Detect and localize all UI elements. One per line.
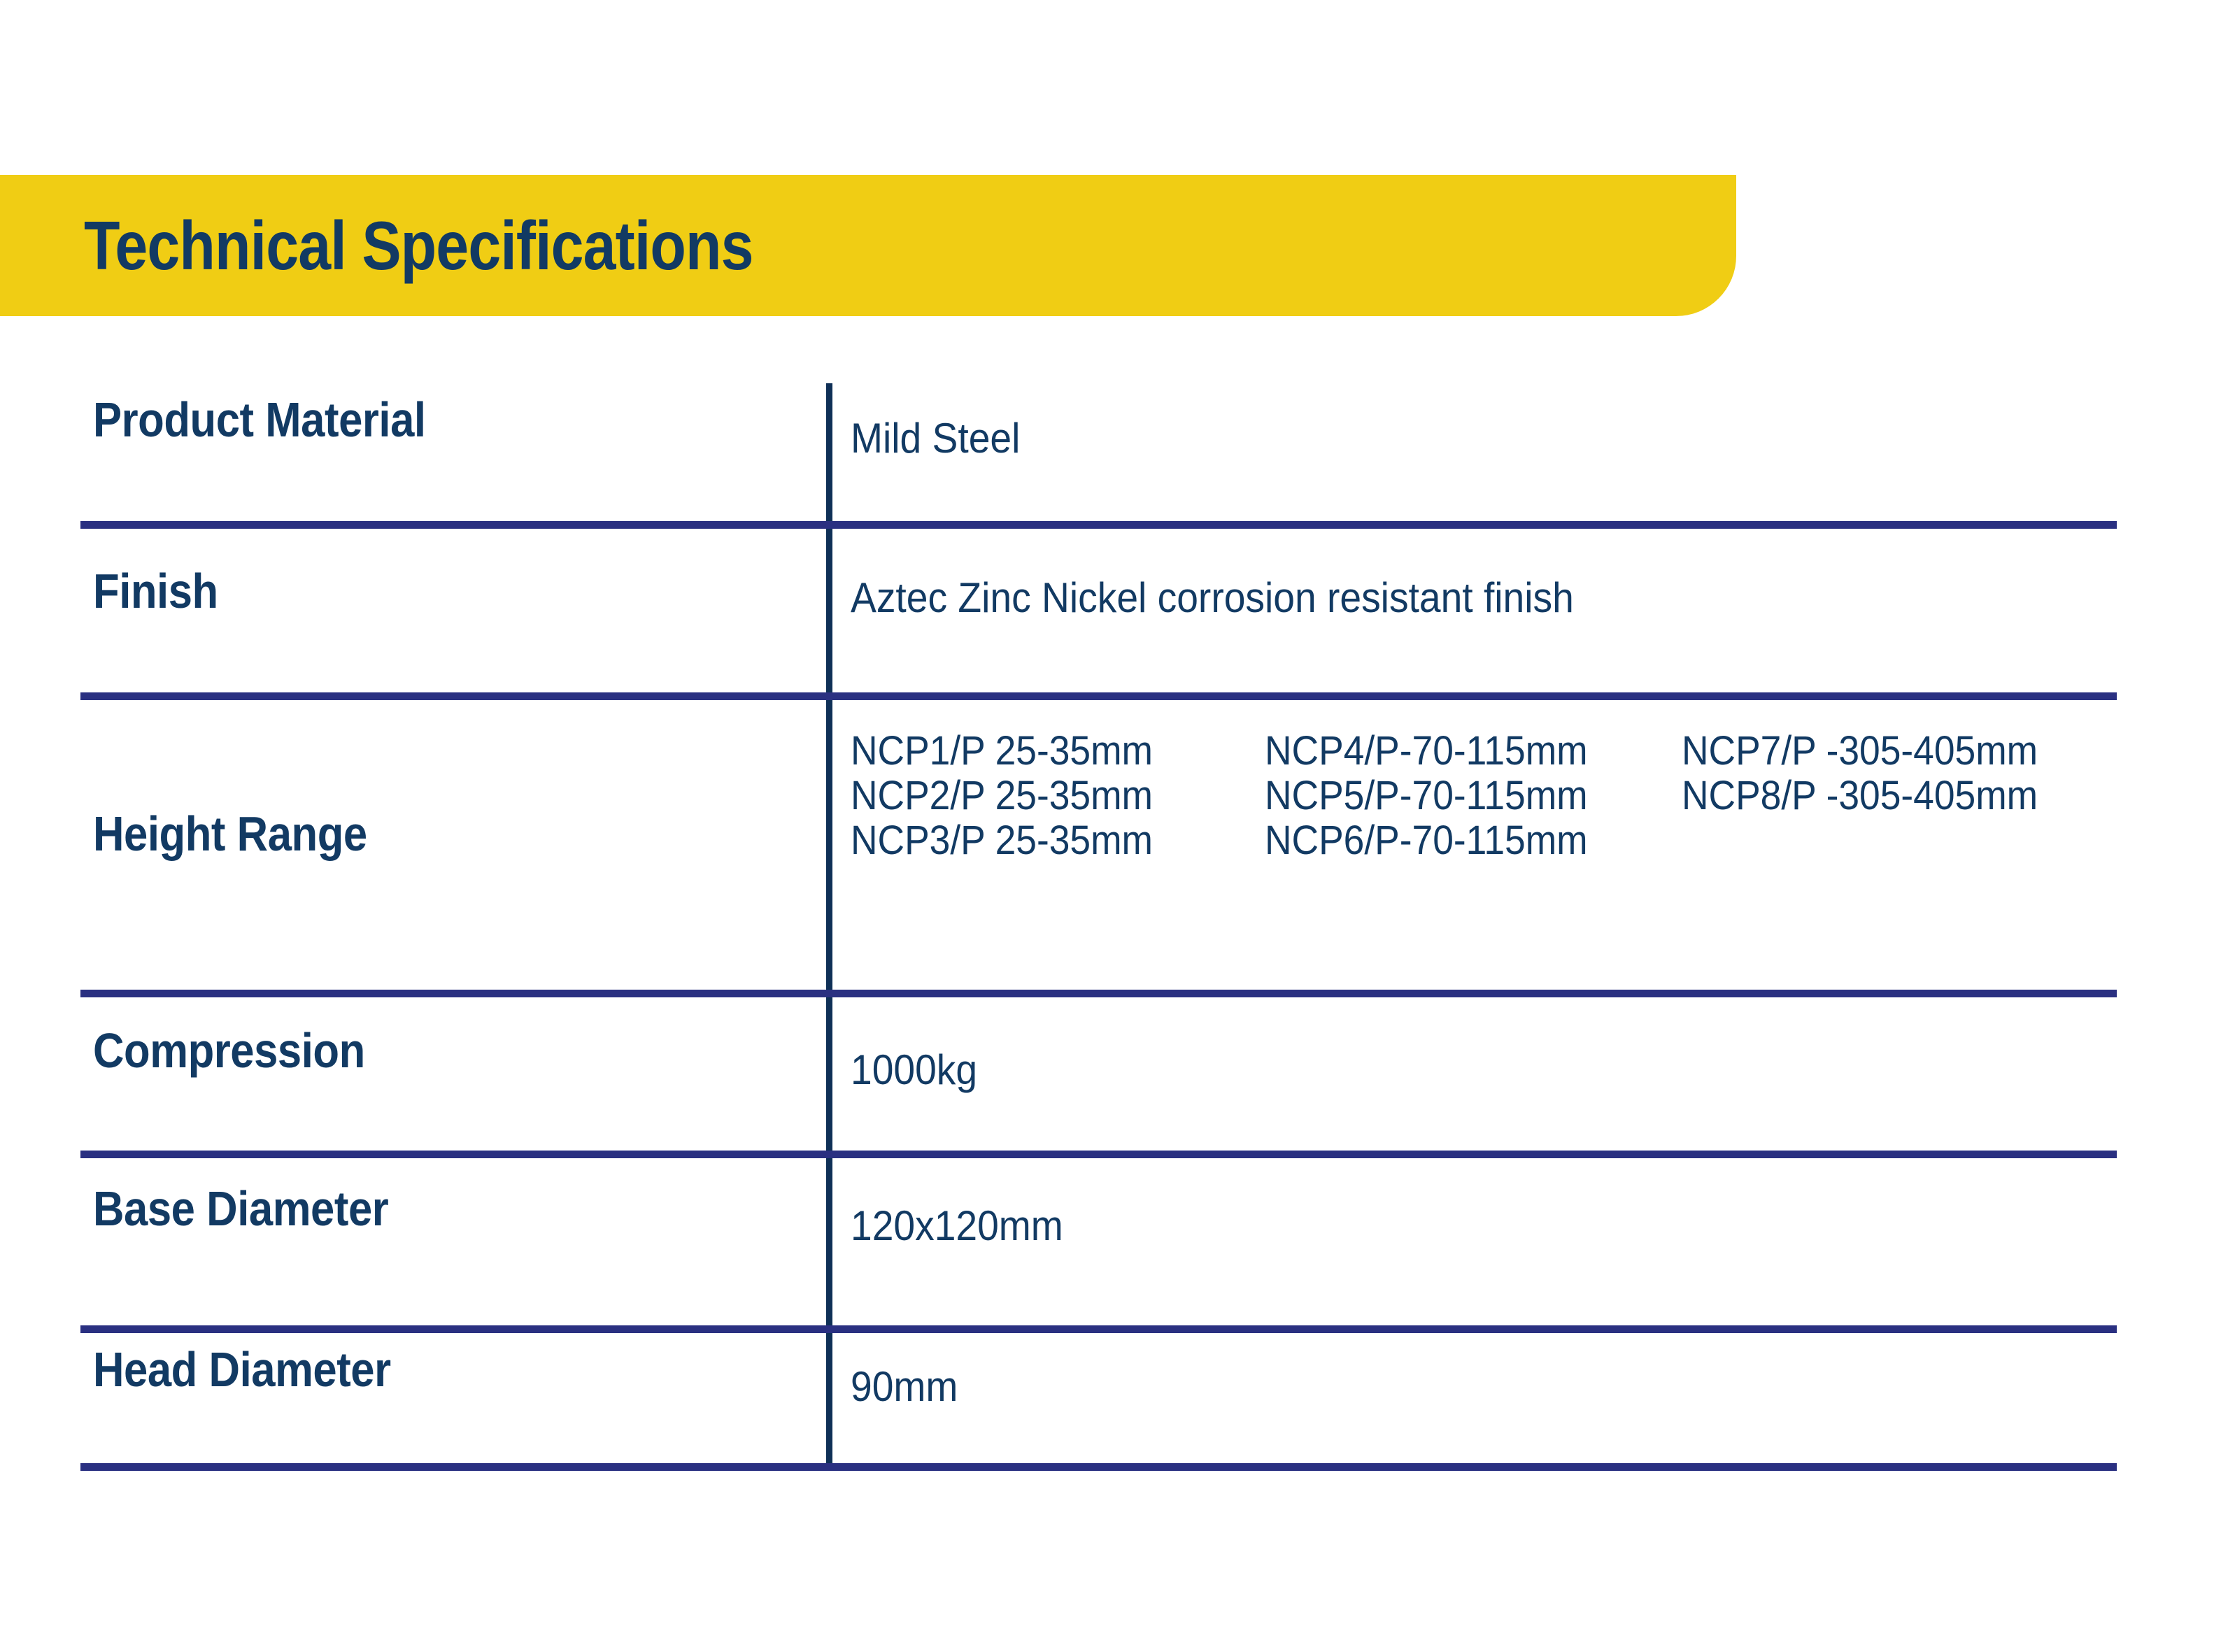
spec-value-height-range: NCP1/P 25-35mm NCP4/P-70-115mm NCP7/P -3…	[851, 727, 2180, 862]
spec-label-head-diameter: Head Diameter	[93, 1341, 391, 1397]
height-range-cell: NCP2/P 25-35mm	[851, 772, 1153, 819]
row-divider	[80, 1151, 2117, 1158]
row-divider	[80, 692, 2117, 700]
height-range-cell: NCP1/P 25-35mm	[851, 727, 1153, 774]
specifications-table: Product Material Mild Steel Finish Aztec…	[0, 0, 2214, 1652]
spec-value-finish: Aztec Zinc Nickel corrosion resistant fi…	[851, 574, 1574, 622]
spec-value-compression: 1000kg	[851, 1046, 977, 1094]
row-divider	[80, 1463, 2117, 1471]
height-range-line: NCP3/P 25-35mm NCP6/P-70-115mm	[851, 817, 2180, 862]
row-divider	[80, 521, 2117, 529]
row-divider	[80, 990, 2117, 997]
height-range-cell: NCP5/P-70-115mm	[1265, 772, 1588, 819]
height-range-cell: NCP3/P 25-35mm	[851, 817, 1153, 864]
spec-value-product-material: Mild Steel	[851, 414, 1020, 462]
spec-value-base-diameter: 120x120mm	[851, 1202, 1063, 1250]
height-range-cell: NCP7/P -305-405mm	[1682, 727, 2038, 774]
height-range-cell: NCP8/P -305-405mm	[1682, 772, 2038, 819]
row-divider	[80, 1325, 2117, 1333]
spec-label-product-material: Product Material	[93, 392, 426, 448]
height-range-cell: NCP4/P-70-115mm	[1265, 727, 1588, 774]
height-range-cell: NCP6/P-70-115mm	[1265, 817, 1588, 864]
spec-label-finish: Finish	[93, 563, 218, 619]
spec-value-head-diameter: 90mm	[851, 1362, 958, 1411]
height-range-line: NCP1/P 25-35mm NCP4/P-70-115mm NCP7/P -3…	[851, 727, 2180, 772]
column-divider	[826, 383, 832, 1469]
spec-label-compression: Compression	[93, 1023, 365, 1078]
height-range-line: NCP2/P 25-35mm NCP5/P-70-115mm NCP8/P -3…	[851, 772, 2180, 817]
spec-label-height-range: Height Range	[93, 806, 367, 862]
spec-label-base-diameter: Base Diameter	[93, 1181, 388, 1237]
